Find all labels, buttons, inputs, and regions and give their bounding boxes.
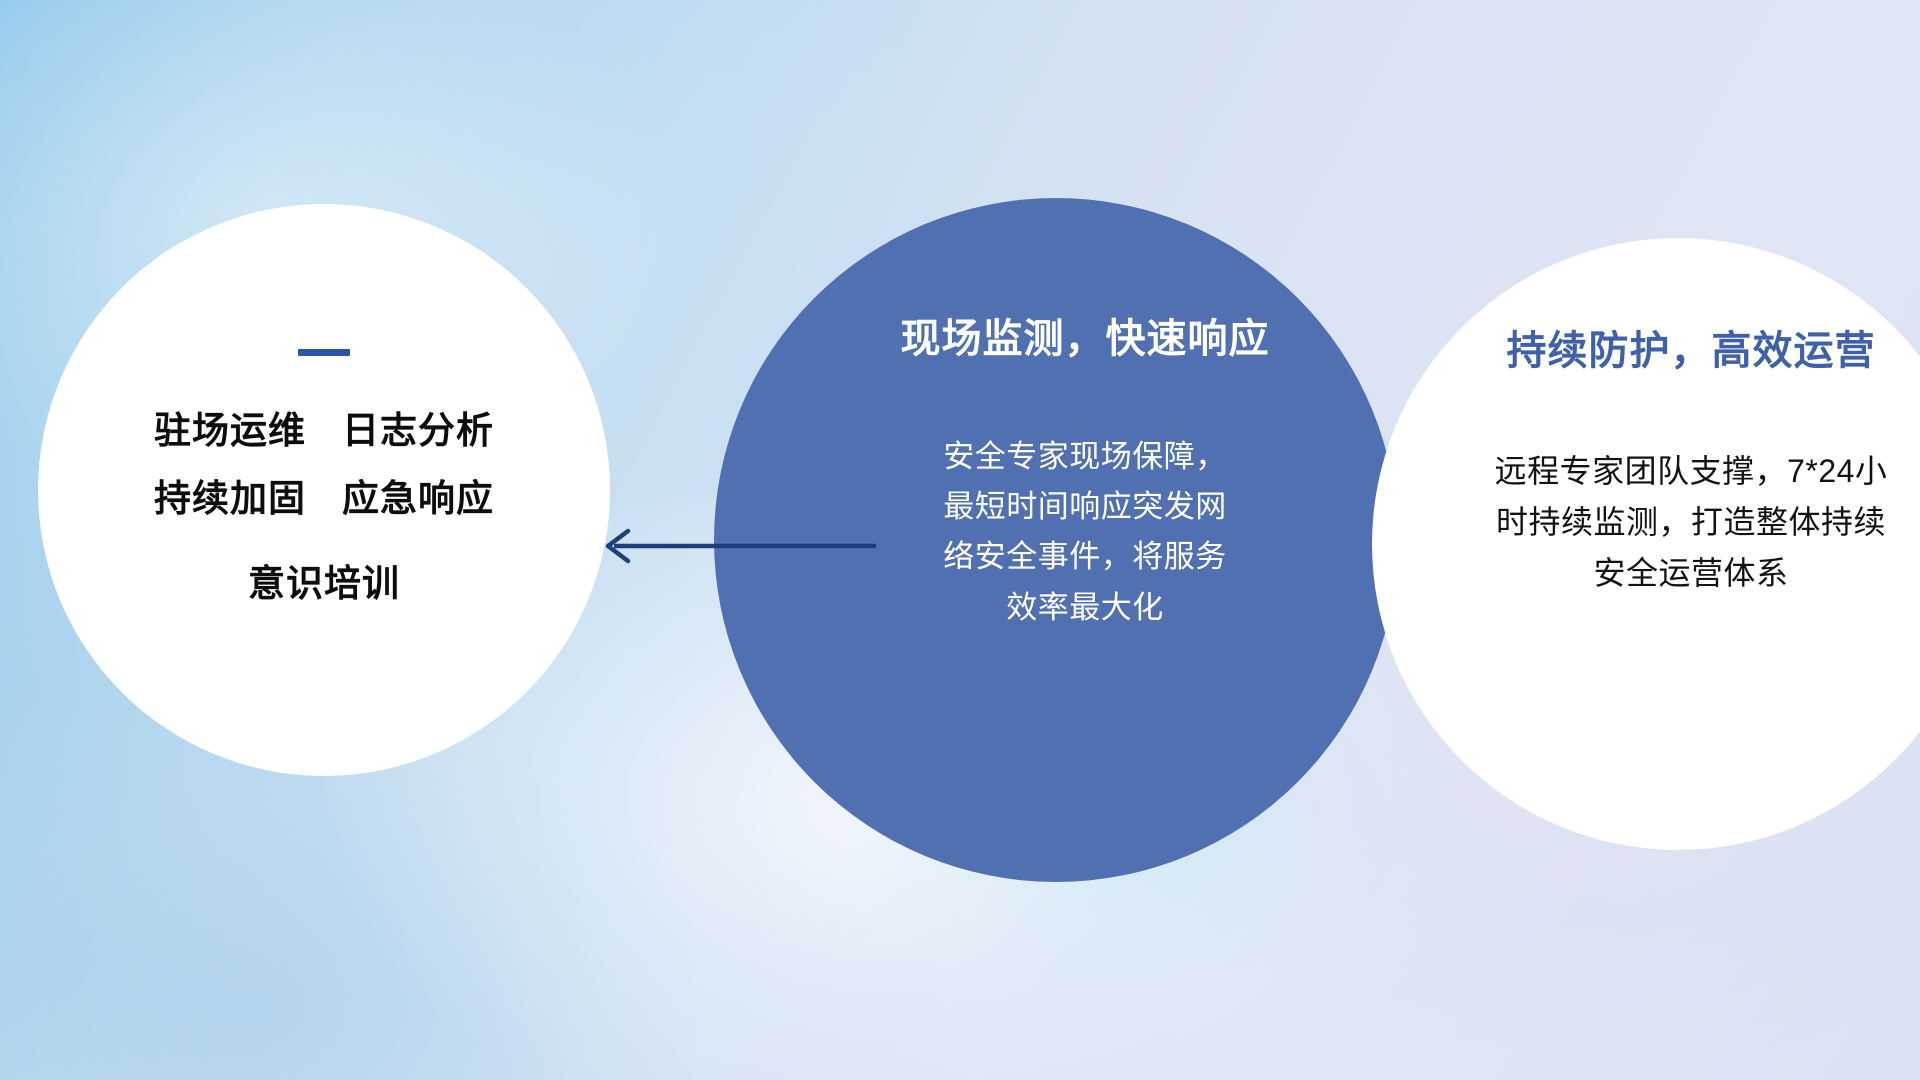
onsite-monitoring-description: 安全专家现场保障，最短时间响应突发网络安全事件，将服务效率最大化 bbox=[930, 432, 1240, 633]
continuous-protection-title: 持续防护，高效运营 bbox=[1507, 318, 1876, 376]
continuous-protection-description: 远程专家团队支撑，7*24小时持续监测，打造整体持续安全运营体系 bbox=[1481, 446, 1901, 600]
capabilities-circle[interactable]: 驻场运维 日志分析 持续加固 应急响应 意识培训 bbox=[38, 204, 610, 776]
onsite-monitoring-title: 现场监测，快速响应 bbox=[901, 306, 1270, 364]
arrow-left-icon bbox=[588, 498, 878, 594]
keyword-continuous-hardening[interactable]: 持续加固 bbox=[154, 472, 306, 526]
keyword-log-analysis[interactable]: 日志分析 bbox=[342, 404, 494, 458]
dash-divider-icon bbox=[298, 349, 350, 356]
slide-canvas: 驻场运维 日志分析 持续加固 应急响应 意识培训 现场监测，快速响应 安全专家现… bbox=[0, 0, 1920, 1080]
keyword-row: 驻场运维 日志分析 bbox=[154, 404, 494, 458]
keyword-onsite-ops[interactable]: 驻场运维 bbox=[154, 404, 306, 458]
keyword-awareness-training[interactable]: 意识培训 bbox=[248, 553, 400, 607]
keyword-emergency-response[interactable]: 应急响应 bbox=[342, 472, 494, 526]
keyword-row: 持续加固 应急响应 bbox=[154, 472, 494, 526]
